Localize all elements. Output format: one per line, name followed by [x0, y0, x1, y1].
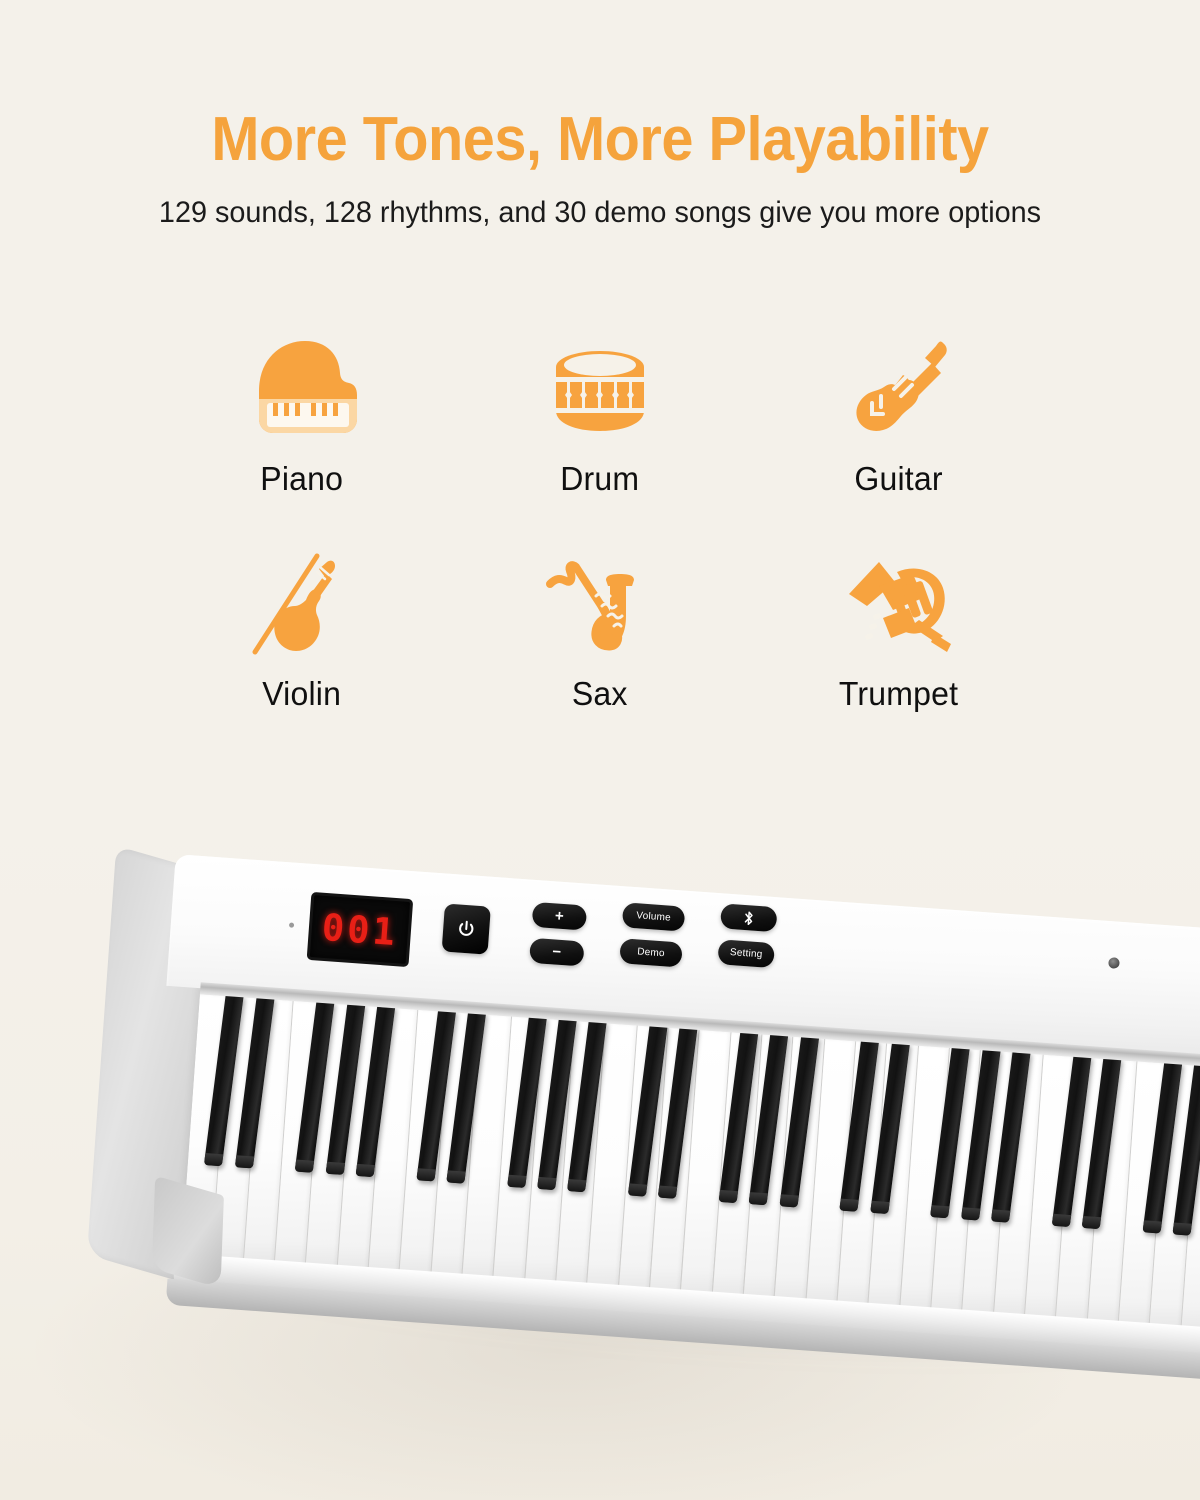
- snare-drum-icon: [535, 330, 665, 448]
- tone-label: Drum: [560, 460, 639, 498]
- tone-item-sax: Sax: [451, 545, 750, 760]
- digital-piano: 001 + − Volume Demo: [84, 850, 1200, 1403]
- page-subtitle: 129 sounds, 128 rhythms, and 30 demo son…: [24, 171, 1176, 233]
- bluetooth-button[interactable]: [720, 903, 778, 932]
- volume-button[interactable]: Volume: [622, 902, 686, 931]
- saxophone-icon: [535, 545, 665, 663]
- tone-label: Trumpet: [839, 675, 958, 713]
- increase-button[interactable]: +: [532, 902, 588, 931]
- volume-button-label: Volume: [636, 910, 671, 923]
- electric-guitar-icon: [834, 330, 964, 448]
- tone-feature-grid: Piano: [152, 330, 1048, 760]
- tone-label: Guitar: [854, 460, 942, 498]
- audio-port: [1108, 957, 1120, 969]
- tone-item-drum: Drum: [451, 330, 750, 545]
- tone-label: Sax: [572, 675, 628, 713]
- grand-piano-icon: [236, 330, 366, 448]
- tone-item-guitar: Guitar: [749, 330, 1048, 545]
- decrease-button[interactable]: −: [529, 938, 585, 967]
- power-icon: [456, 918, 477, 939]
- violin-icon: [236, 545, 366, 663]
- setting-button-label: Setting: [730, 947, 763, 960]
- plus-icon: +: [554, 908, 564, 924]
- bluetooth-icon: [742, 909, 755, 926]
- setting-button[interactable]: Setting: [717, 939, 775, 968]
- demo-button[interactable]: Demo: [619, 938, 683, 967]
- led-display-value: 001: [321, 908, 399, 950]
- led-display: 001: [307, 892, 414, 967]
- tone-label: Piano: [260, 460, 343, 498]
- trumpet-icon: [834, 545, 964, 663]
- tone-item-piano: Piano: [152, 330, 451, 545]
- power-button[interactable]: [442, 904, 491, 955]
- indicator-led: [289, 922, 294, 927]
- header-block: More Tones, More Playability 129 sounds,…: [0, 0, 1200, 233]
- minus-icon: −: [552, 944, 562, 960]
- page-title: More Tones, More Playability: [42, 0, 1158, 171]
- tone-label: Violin: [262, 675, 341, 713]
- tone-item-trumpet: Trumpet: [749, 545, 1048, 760]
- tone-item-violin: Violin: [152, 545, 451, 760]
- demo-button-label: Demo: [637, 946, 665, 959]
- product-photo-keyboard: 001 + − Volume Demo: [0, 790, 1200, 1500]
